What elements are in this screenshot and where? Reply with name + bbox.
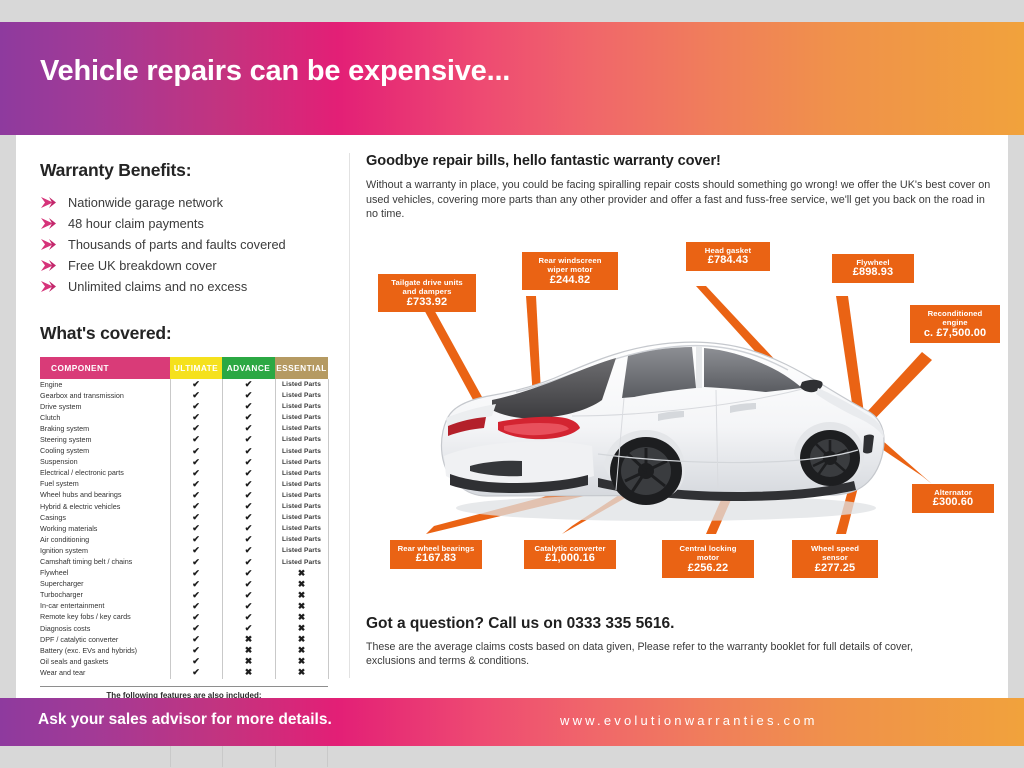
chevron-right-icon xyxy=(40,259,57,272)
callout-amount: £1,000.16 xyxy=(531,554,609,563)
coverage-cell: ✔ xyxy=(170,623,222,634)
callout-alternator: Alternator £300.60 xyxy=(912,484,994,513)
coverage-mark: ✔ xyxy=(245,557,253,567)
component-name: Braking system xyxy=(40,423,170,434)
coverage-mark: ✔ xyxy=(192,479,200,489)
callout-amount: £167.83 xyxy=(397,554,475,563)
coverage-mark: ✔ xyxy=(192,656,200,666)
callout-catalytic-converter: Catalytic converter £1,000.16 xyxy=(524,540,616,569)
coverage-cell: ✔ xyxy=(170,457,222,468)
callout-central-locking-motor: Central locking motor £256.22 xyxy=(662,540,754,578)
coverage-cell: Listed Parts xyxy=(275,523,328,534)
footer-cta-text: Ask your sales advisor for more details. xyxy=(38,711,332,729)
table-row: Turbocharger✔✔✖ xyxy=(40,590,328,601)
component-name: Camshaft timing belt / chains xyxy=(40,557,170,568)
coverage-mark: ✔ xyxy=(245,623,253,633)
component-name: Clutch xyxy=(40,412,170,423)
coverage-mark: ✔ xyxy=(192,667,200,677)
coverage-cell: ✔ xyxy=(222,390,275,401)
intro-title: Goodbye repair bills, hello fantastic wa… xyxy=(366,153,996,169)
chevron-right-icon xyxy=(40,280,57,293)
coverage-mark: Listed Parts xyxy=(282,492,321,499)
table-row: Casings✔✔Listed Parts xyxy=(40,512,328,523)
coverage-cell: Listed Parts xyxy=(275,512,328,523)
callout-amount: £244.82 xyxy=(529,276,611,285)
coverage-mark: ✔ xyxy=(192,423,200,433)
chevron-right-icon xyxy=(40,217,57,230)
coverage-mark: ✔ xyxy=(192,457,200,467)
coverage-cell: ✔ xyxy=(222,590,275,601)
coverage-cell: ✔ xyxy=(222,568,275,579)
table-row: Wheel hubs and bearings✔✔Listed Parts xyxy=(40,490,328,501)
callout-label: Central locking motor xyxy=(679,544,736,562)
column-header-component: Component xyxy=(40,357,170,379)
coverage-mark: ✔ xyxy=(245,468,253,478)
component-name: Engine xyxy=(40,379,170,390)
coverage-mark: ✔ xyxy=(245,601,253,611)
left-column: Warranty Benefits: Nationwide garage net… xyxy=(40,160,340,767)
callout-rear-windscreen-wiper-motor: Rear windscreen wiper motor £244.82 xyxy=(522,252,618,290)
spacer xyxy=(40,757,171,767)
coverage-cell: Listed Parts xyxy=(275,501,328,512)
component-name: Drive system xyxy=(40,401,170,412)
coverage-mark: ✖ xyxy=(298,612,306,622)
contact-title: Got a question? Call us on 0333 335 5616… xyxy=(366,615,926,633)
extras-spacer-row xyxy=(40,746,328,756)
coverage-mark: Listed Parts xyxy=(282,547,321,554)
coverage-mark: ✔ xyxy=(245,412,253,422)
component-name: Turbocharger xyxy=(40,590,170,601)
benefit-item: Thousands of parts and faults covered xyxy=(40,234,340,255)
table-row: Battery (exc. EVs and hybrids)✔✖✖ xyxy=(40,645,328,656)
coverage-mark: ✔ xyxy=(245,401,253,411)
coverage-mark: ✔ xyxy=(192,490,200,500)
component-name: Diagnosis costs xyxy=(40,623,170,634)
coverage-mark: ✔ xyxy=(192,434,200,444)
coverage-mark: ✔ xyxy=(245,590,253,600)
table-row: Supercharger✔✔✖ xyxy=(40,579,328,590)
component-name: Suspension xyxy=(40,457,170,468)
table-row: Remote key fobs / key cards✔✔✖ xyxy=(40,612,328,623)
coverage-mark: Listed Parts xyxy=(282,525,321,532)
coverage-cell: ✔ xyxy=(222,479,275,490)
coverage-cell: Listed Parts xyxy=(275,545,328,556)
extras-spacer-row xyxy=(40,757,328,767)
coverage-mark: ✖ xyxy=(298,667,306,677)
callout-amount: £300.60 xyxy=(919,498,987,507)
coverage-cell: ✔ xyxy=(170,423,222,434)
table-row: Air conditioning✔✔Listed Parts xyxy=(40,534,328,545)
coverage-mark: ✔ xyxy=(245,390,253,400)
component-name: DPF / catalytic converter xyxy=(40,634,170,645)
component-name: Oil seals and gaskets xyxy=(40,656,170,667)
benefit-item: Nationwide garage network xyxy=(40,192,340,213)
coverage-cell: ✔ xyxy=(222,512,275,523)
coverage-mark: ✔ xyxy=(245,545,253,555)
coverage-cell: Listed Parts xyxy=(275,434,328,445)
callout-tailgate-drive-units: Tailgate drive units and dampers £733.92 xyxy=(378,274,476,312)
coverage-mark: ✔ xyxy=(192,379,200,389)
component-name: Wear and tear xyxy=(40,667,170,678)
coverage-mark: ✔ xyxy=(192,557,200,567)
coverage-mark: Listed Parts xyxy=(282,481,321,488)
coverage-cell: ✔ xyxy=(222,423,275,434)
coverage-mark: Listed Parts xyxy=(282,425,321,432)
coverage-mark: Listed Parts xyxy=(282,470,321,477)
coverage-cell: Listed Parts xyxy=(275,490,328,501)
coverage-cell: ✔ xyxy=(170,656,222,667)
coverage-mark: ✔ xyxy=(192,590,200,600)
coverage-cell: Listed Parts xyxy=(275,379,328,390)
coverage-mark: ✔ xyxy=(192,534,200,544)
coverage-cell: Listed Parts xyxy=(275,479,328,490)
callout-amount: £784.43 xyxy=(693,256,763,265)
spacer xyxy=(275,746,327,756)
component-name: Air conditioning xyxy=(40,534,170,545)
coverage-cell: ✔ xyxy=(170,612,222,623)
coverage-cell: ✔ xyxy=(170,468,222,479)
coverage-mark: ✔ xyxy=(245,490,253,500)
warranty-benefits-list: Nationwide garage network48 hour claim p… xyxy=(40,192,340,297)
coverage-mark: Listed Parts xyxy=(282,414,321,421)
table-row: Electrical / electronic parts✔✔Listed Pa… xyxy=(40,468,328,479)
column-divider xyxy=(349,153,350,678)
coverage-cell: ✔ xyxy=(222,468,275,479)
car-illustration xyxy=(441,342,884,521)
contact-disclaimer: These are the average claims costs based… xyxy=(366,640,926,669)
coverage-cell: Listed Parts xyxy=(275,468,328,479)
coverage-mark: ✔ xyxy=(245,479,253,489)
table-header-row: Component ULTIMATE ADVANCE ESSENTIAL xyxy=(40,357,328,379)
coverage-mark: ✔ xyxy=(245,501,253,511)
coverage-mark: Listed Parts xyxy=(282,514,321,521)
footer-website: www.evolutionwarranties.com xyxy=(560,713,818,728)
callout-flywheel: Flywheel £898.93 xyxy=(832,254,914,283)
column-header-advance: ADVANCE xyxy=(222,357,275,379)
benefit-label: Thousands of parts and faults covered xyxy=(68,237,286,252)
coverage-mark: ✖ xyxy=(245,667,253,677)
component-name: Ignition system xyxy=(40,545,170,556)
table-row: Fuel system✔✔Listed Parts xyxy=(40,479,328,490)
coverage-cell: ✔ xyxy=(222,523,275,534)
component-name: Wheel hubs and bearings xyxy=(40,490,170,501)
coverage-cell: ✔ xyxy=(170,379,222,390)
coverage-cell: ✔ xyxy=(170,446,222,457)
table-row: Camshaft timing belt / chains✔✔Listed Pa… xyxy=(40,557,328,568)
coverage-mark: ✔ xyxy=(245,379,253,389)
coverage-cell: ✔ xyxy=(170,523,222,534)
coverage-mark: ✔ xyxy=(245,434,253,444)
benefit-label: Nationwide garage network xyxy=(68,195,223,210)
spacer xyxy=(223,746,275,756)
coverage-table: Component ULTIMATE ADVANCE ESSENTIAL Eng… xyxy=(40,357,329,679)
table-row: Oil seals and gaskets✔✖✖ xyxy=(40,656,328,667)
table-row: Engine✔✔Listed Parts xyxy=(40,379,328,390)
coverage-cell: ✔ xyxy=(170,434,222,445)
coverage-mark: ✔ xyxy=(245,512,253,522)
coverage-mark: ✔ xyxy=(245,423,253,433)
coverage-cell: Listed Parts xyxy=(275,423,328,434)
coverage-cell: ✔ xyxy=(170,401,222,412)
spacer xyxy=(223,757,275,767)
benefit-label: Free UK breakdown cover xyxy=(68,258,217,273)
coverage-mark: ✖ xyxy=(298,634,306,644)
coverage-mark: ✖ xyxy=(298,601,306,611)
coverage-mark: Listed Parts xyxy=(282,403,321,410)
coverage-mark: ✔ xyxy=(192,468,200,478)
callout-rear-wheel-bearings: Rear wheel bearings £167.83 xyxy=(390,540,482,569)
callout-label: Reconditioned engine xyxy=(928,309,983,327)
coverage-cell: Listed Parts xyxy=(275,401,328,412)
table-row: Diagnosis costs✔✔✖ xyxy=(40,623,328,634)
coverage-cell: ✔ xyxy=(170,557,222,568)
coverage-mark: ✔ xyxy=(192,579,200,589)
coverage-mark: Listed Parts xyxy=(282,559,321,566)
coverage-cell: ✔ xyxy=(222,557,275,568)
coverage-table-header: Component ULTIMATE ADVANCE ESSENTIAL xyxy=(40,357,328,379)
coverage-mark: ✔ xyxy=(192,390,200,400)
coverage-mark: ✖ xyxy=(298,645,306,655)
right-column: Goodbye repair bills, hello fantastic wa… xyxy=(366,153,996,222)
column-header-ultimate: ULTIMATE xyxy=(170,357,222,379)
coverage-cell: Listed Parts xyxy=(275,446,328,457)
coverage-cell: ✔ xyxy=(170,645,222,656)
coverage-mark: Listed Parts xyxy=(282,392,321,399)
coverage-cell: ✔ xyxy=(222,401,275,412)
callout-label: Rear windscreen wiper motor xyxy=(538,256,601,274)
coverage-cell: Listed Parts xyxy=(275,412,328,423)
coverage-cell: ✔ xyxy=(170,534,222,545)
coverage-cell: ✔ xyxy=(222,579,275,590)
chevron-right-icon xyxy=(40,196,57,209)
coverage-mark: ✖ xyxy=(298,590,306,600)
callout-amount: £277.25 xyxy=(799,564,871,573)
coverage-cell: ✔ xyxy=(170,667,222,678)
table-row: Ignition system✔✔Listed Parts xyxy=(40,545,328,556)
coverage-mark: ✔ xyxy=(192,545,200,555)
page-title: Vehicle repairs can be expensive... xyxy=(40,55,510,88)
coverage-cell: ✔ xyxy=(222,501,275,512)
coverage-mark: ✔ xyxy=(245,568,253,578)
coverage-cell: ✖ xyxy=(275,634,328,645)
coverage-cell: ✖ xyxy=(275,656,328,667)
coverage-cell: ✔ xyxy=(222,446,275,457)
coverage-mark: ✔ xyxy=(192,612,200,622)
coverage-cell: ✔ xyxy=(222,379,275,390)
component-name: Cooling system xyxy=(40,446,170,457)
coverage-cell: ✔ xyxy=(170,590,222,601)
coverage-mark: ✔ xyxy=(192,568,200,578)
coverage-cell: ✖ xyxy=(275,590,328,601)
coverage-cell: ✔ xyxy=(222,623,275,634)
coverage-mark: ✖ xyxy=(245,656,253,666)
coverage-mark: ✔ xyxy=(192,446,200,456)
coverage-cell: ✔ xyxy=(170,490,222,501)
coverage-cell: ✖ xyxy=(275,601,328,612)
coverage-cell: ✔ xyxy=(222,434,275,445)
coverage-mark: ✔ xyxy=(192,501,200,511)
coverage-cell: ✖ xyxy=(222,656,275,667)
callout-amount: £733.92 xyxy=(385,298,469,307)
coverage-mark: Listed Parts xyxy=(282,503,321,510)
callout-head-gasket: Head gasket £784.43 xyxy=(686,242,770,271)
coverage-cell: ✔ xyxy=(170,512,222,523)
coverage-cell: ✔ xyxy=(170,601,222,612)
coverage-cell: Listed Parts xyxy=(275,557,328,568)
coverage-mark: ✖ xyxy=(245,634,253,644)
coverage-cell: ✖ xyxy=(275,667,328,678)
coverage-cell: Listed Parts xyxy=(275,457,328,468)
vehicle-cost-diagram: Tailgate drive units and dampers £733.92… xyxy=(366,240,1001,625)
table-row: Cooling system✔✔Listed Parts xyxy=(40,446,328,457)
component-name: Electrical / electronic parts xyxy=(40,468,170,479)
coverage-mark: ✔ xyxy=(245,457,253,467)
component-name: Remote key fobs / key cards xyxy=(40,612,170,623)
table-row: Drive system✔✔Listed Parts xyxy=(40,401,328,412)
coverage-mark: Listed Parts xyxy=(282,381,321,388)
coverage-cell: ✔ xyxy=(222,490,275,501)
callout-reconditioned-engine: Reconditioned engine c. £7,500.00 xyxy=(910,305,1000,343)
table-row: Flywheel✔✔✖ xyxy=(40,568,328,579)
coverage-mark: ✖ xyxy=(298,579,306,589)
coverage-mark: ✔ xyxy=(192,523,200,533)
table-row: Hybrid & electric vehicles✔✔Listed Parts xyxy=(40,501,328,512)
table-row: Gearbox and transmission✔✔Listed Parts xyxy=(40,390,328,401)
coverage-cell: ✔ xyxy=(222,457,275,468)
warranty-benefits-heading: Warranty Benefits: xyxy=(40,160,340,181)
coverage-cell: Listed Parts xyxy=(275,534,328,545)
brochure-page: Vehicle repairs can be expensive... Warr… xyxy=(0,0,1024,768)
table-row: Wear and tear✔✖✖ xyxy=(40,667,328,678)
coverage-mark: ✖ xyxy=(298,568,306,578)
table-row: Clutch✔✔Listed Parts xyxy=(40,412,328,423)
table-row: In-car entertainment✔✔✖ xyxy=(40,601,328,612)
spacer xyxy=(171,746,223,756)
component-name: In-car entertainment xyxy=(40,601,170,612)
callout-label: Tailgate drive units and dampers xyxy=(391,278,463,296)
coverage-cell: ✔ xyxy=(170,501,222,512)
coverage-cell: ✔ xyxy=(170,545,222,556)
coverage-mark: Listed Parts xyxy=(282,448,321,455)
coverage-mark: ✔ xyxy=(245,446,253,456)
benefit-item: Unlimited claims and no excess xyxy=(40,276,340,297)
component-name: Flywheel xyxy=(40,568,170,579)
coverage-cell: ✔ xyxy=(170,568,222,579)
coverage-cell: ✔ xyxy=(170,579,222,590)
table-row: Steering system✔✔Listed Parts xyxy=(40,434,328,445)
coverage-mark: ✖ xyxy=(245,645,253,655)
chevron-right-icon xyxy=(40,238,57,251)
contact-block: Got a question? Call us on 0333 335 5616… xyxy=(366,615,926,669)
benefit-label: 48 hour claim payments xyxy=(68,216,204,231)
component-name: Casings xyxy=(40,512,170,523)
coverage-cell: ✖ xyxy=(222,634,275,645)
spacer xyxy=(40,746,171,756)
intro-body: Without a warranty in place, you could b… xyxy=(366,178,996,222)
component-name: Hybrid & electric vehicles xyxy=(40,501,170,512)
callout-label: Wheel speed sensor xyxy=(811,544,859,562)
callout-wheel-speed-sensor: Wheel speed sensor £277.25 xyxy=(792,540,878,578)
coverage-cell: ✔ xyxy=(170,412,222,423)
coverage-cell: ✖ xyxy=(275,579,328,590)
coverage-mark: ✖ xyxy=(298,656,306,666)
component-name: Supercharger xyxy=(40,579,170,590)
coverage-cell: Listed Parts xyxy=(275,390,328,401)
coverage-cell: ✔ xyxy=(170,390,222,401)
coverage-cell: ✖ xyxy=(275,645,328,656)
coverage-mark: ✔ xyxy=(245,612,253,622)
spacer xyxy=(171,757,223,767)
table-row: Working materials✔✔Listed Parts xyxy=(40,523,328,534)
coverage-cell: ✖ xyxy=(275,612,328,623)
spacer xyxy=(275,757,327,767)
coverage-mark: ✔ xyxy=(192,512,200,522)
coverage-mark: ✔ xyxy=(245,523,253,533)
coverage-cell: ✖ xyxy=(222,645,275,656)
component-name: Steering system xyxy=(40,434,170,445)
coverage-cell: ✖ xyxy=(275,623,328,634)
component-name: Gearbox and transmission xyxy=(40,390,170,401)
coverage-table-body: Engine✔✔Listed PartsGearbox and transmis… xyxy=(40,379,328,679)
content-canvas: Warranty Benefits: Nationwide garage net… xyxy=(16,135,1008,698)
component-name: Battery (exc. EVs and hybrids) xyxy=(40,645,170,656)
whats-covered-heading: What's covered: xyxy=(40,323,340,344)
coverage-cell: ✔ xyxy=(222,545,275,556)
benefit-item: Free UK breakdown cover xyxy=(40,255,340,276)
coverage-mark: Listed Parts xyxy=(282,436,321,443)
component-name: Fuel system xyxy=(40,479,170,490)
coverage-cell: ✖ xyxy=(222,667,275,678)
coverage-cell: ✔ xyxy=(170,634,222,645)
coverage-mark: Listed Parts xyxy=(282,536,321,543)
coverage-cell: ✖ xyxy=(275,568,328,579)
callout-amount: £256.22 xyxy=(669,564,747,573)
benefit-item: 48 hour claim payments xyxy=(40,213,340,234)
callout-amount: c. £7,500.00 xyxy=(917,329,993,338)
callout-amount: £898.93 xyxy=(839,268,907,277)
coverage-mark: Listed Parts xyxy=(282,459,321,466)
coverage-cell: ✔ xyxy=(222,534,275,545)
coverage-mark: ✔ xyxy=(192,634,200,644)
coverage-mark: ✔ xyxy=(245,579,253,589)
coverage-cell: ✔ xyxy=(170,479,222,490)
table-row: Braking system✔✔Listed Parts xyxy=(40,423,328,434)
coverage-mark: ✔ xyxy=(245,534,253,544)
benefit-label: Unlimited claims and no excess xyxy=(68,279,247,294)
coverage-cell: ✔ xyxy=(222,601,275,612)
table-row: DPF / catalytic converter✔✖✖ xyxy=(40,634,328,645)
table-row: Suspension✔✔Listed Parts xyxy=(40,457,328,468)
coverage-mark: ✔ xyxy=(192,401,200,411)
column-header-essential: ESSENTIAL xyxy=(275,357,328,379)
coverage-mark: ✔ xyxy=(192,412,200,422)
coverage-cell: ✔ xyxy=(222,612,275,623)
coverage-mark: ✔ xyxy=(192,601,200,611)
coverage-mark: ✔ xyxy=(192,623,200,633)
coverage-cell: ✔ xyxy=(222,412,275,423)
component-name: Working materials xyxy=(40,523,170,534)
coverage-mark: ✔ xyxy=(192,645,200,655)
coverage-mark: ✖ xyxy=(298,623,306,633)
